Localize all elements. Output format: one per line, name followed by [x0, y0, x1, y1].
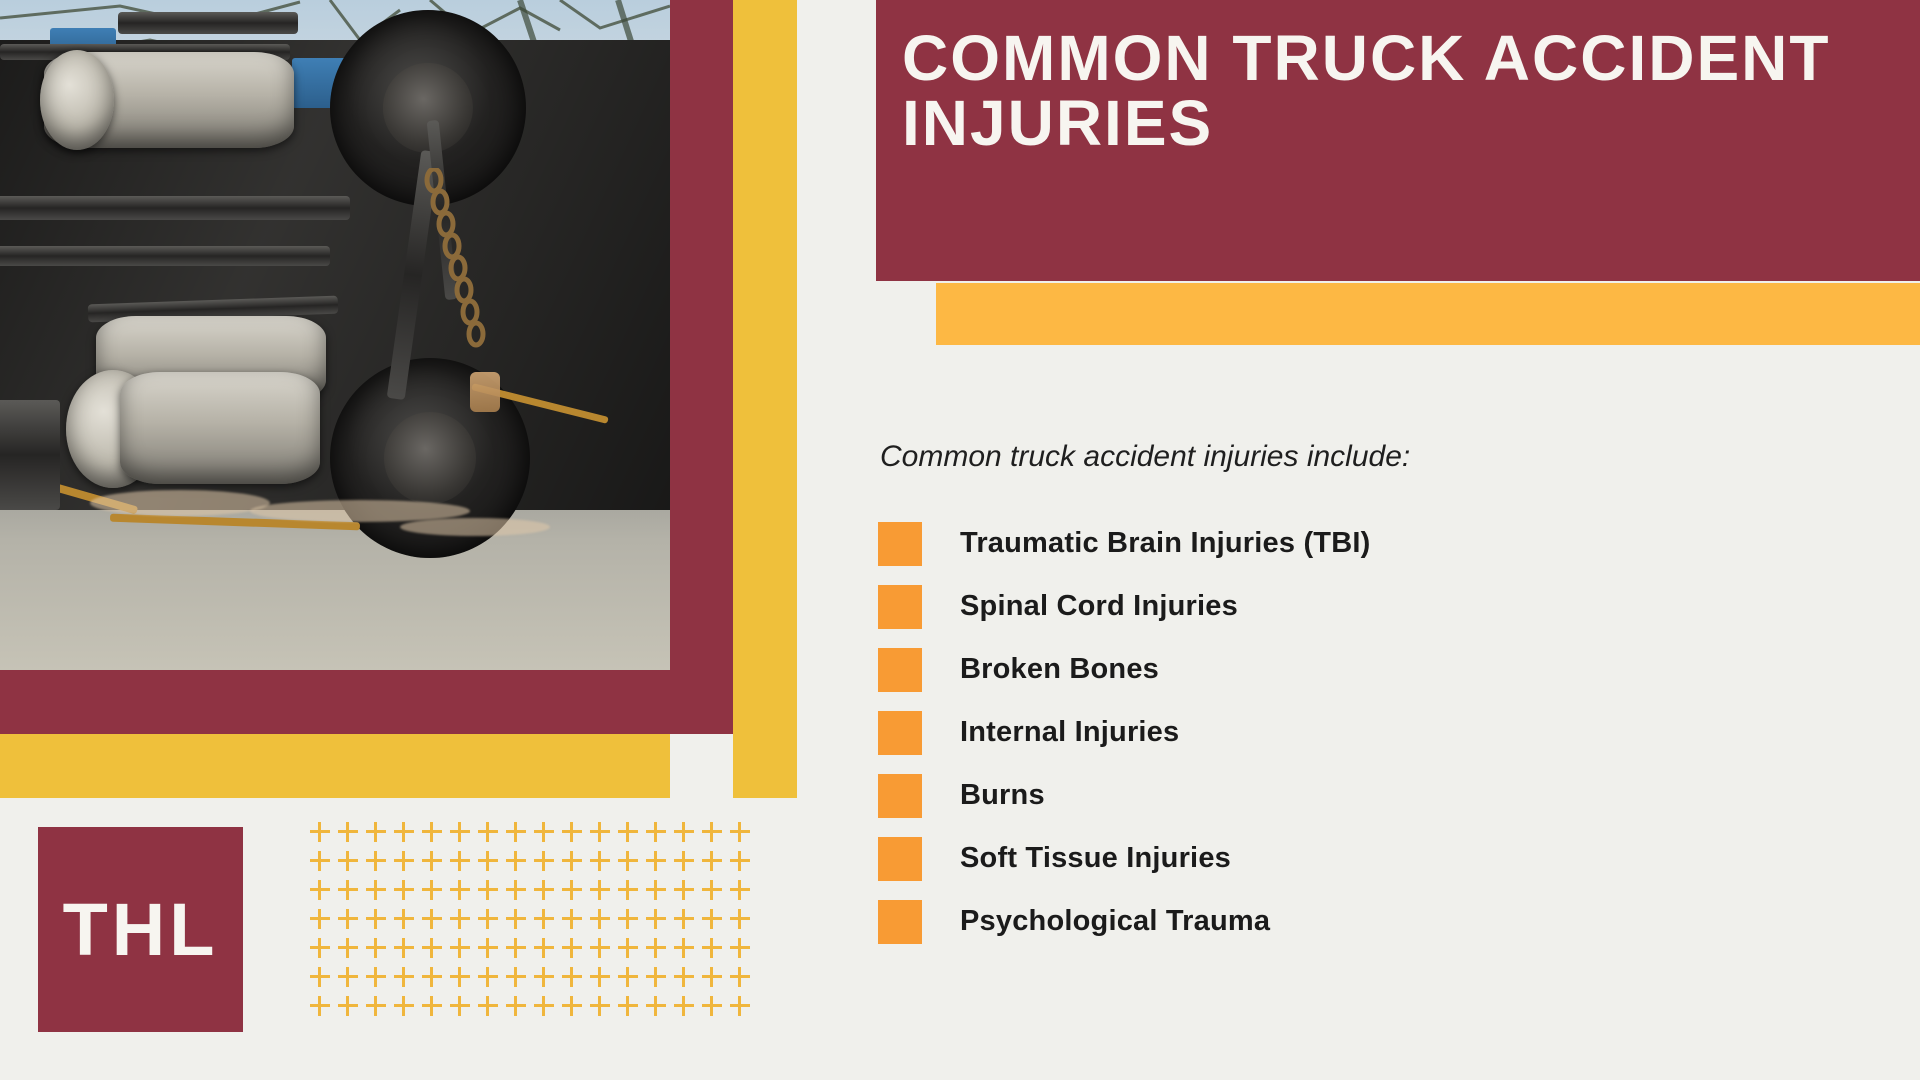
plus-icon — [478, 996, 498, 1016]
plus-icon — [674, 880, 694, 900]
plus-icon — [534, 822, 554, 842]
plus-icon — [646, 851, 666, 871]
photo-air-tank — [120, 372, 320, 484]
injury-list-item: Soft Tissue Injuries — [878, 827, 1778, 890]
plus-icon — [394, 851, 414, 871]
plus-icon — [702, 938, 722, 958]
plus-icon — [338, 822, 358, 842]
plus-icon — [674, 909, 694, 929]
plus-icon — [730, 880, 750, 900]
plus-icon — [702, 822, 722, 842]
plus-icon — [450, 851, 470, 871]
photo-debris — [470, 372, 500, 412]
plus-icon — [450, 822, 470, 842]
plus-icon — [534, 967, 554, 987]
plus-icon — [450, 938, 470, 958]
plus-icon — [618, 938, 638, 958]
photo-chassis-rail — [0, 246, 330, 266]
plus-icon — [394, 996, 414, 1016]
plus-icon — [674, 822, 694, 842]
plus-icon — [450, 967, 470, 987]
plus-icon — [506, 851, 526, 871]
plus-icon — [394, 909, 414, 929]
plus-icon — [478, 967, 498, 987]
plus-icon — [450, 880, 470, 900]
plus-icon — [646, 996, 666, 1016]
injury-label: Psychological Trauma — [960, 905, 1270, 938]
plus-icon — [506, 938, 526, 958]
plus-icon — [422, 909, 442, 929]
plus-icon — [702, 909, 722, 929]
plus-icon — [730, 909, 750, 929]
plus-icon — [562, 938, 582, 958]
plus-icon — [646, 909, 666, 929]
plus-icon — [618, 880, 638, 900]
plus-icon — [534, 909, 554, 929]
plus-icon — [618, 822, 638, 842]
plus-icon — [478, 909, 498, 929]
thl-logo-text: THL — [63, 887, 219, 972]
plus-icon — [310, 822, 330, 842]
plus-icon — [478, 851, 498, 871]
plus-icon — [590, 938, 610, 958]
square-bullet-icon — [878, 648, 922, 692]
plus-icon — [366, 909, 386, 929]
plus-icon — [310, 967, 330, 987]
photo-truck-grille — [0, 400, 60, 510]
yellow-vertical-stripe — [733, 0, 797, 798]
orange-accent-bar — [936, 283, 1920, 345]
plus-icon — [310, 880, 330, 900]
plus-icon — [478, 880, 498, 900]
plus-icon — [562, 822, 582, 842]
plus-icon — [366, 851, 386, 871]
thl-logo[interactable]: THL — [38, 827, 243, 1032]
plus-icon — [422, 967, 442, 987]
truck-accident-photo — [0, 0, 670, 670]
plus-icon — [730, 851, 750, 871]
plus-icon — [730, 996, 750, 1016]
square-bullet-icon — [878, 585, 922, 629]
plus-icon — [506, 822, 526, 842]
plus-icon — [618, 967, 638, 987]
plus-icon — [674, 938, 694, 958]
injury-list-item: Spinal Cord Injuries — [878, 575, 1778, 638]
plus-icon — [590, 880, 610, 900]
plus-icon — [338, 996, 358, 1016]
injury-list-item: Traumatic Brain Injuries (TBI) — [878, 512, 1778, 575]
plus-icon — [338, 967, 358, 987]
maroon-vertical-stripe — [670, 0, 733, 734]
injury-label: Spinal Cord Injuries — [960, 590, 1238, 623]
photo-debris — [400, 518, 550, 536]
plus-icon — [590, 996, 610, 1016]
injury-label: Internal Injuries — [960, 716, 1179, 749]
plus-icon — [590, 967, 610, 987]
infographic-canvas: THL COMMON TRUCK ACCIDENT INJURIES Commo… — [0, 0, 1920, 1080]
plus-icon — [338, 909, 358, 929]
plus-icon — [730, 938, 750, 958]
plus-icon — [310, 996, 330, 1016]
plus-icon — [562, 996, 582, 1016]
plus-icon — [646, 880, 666, 900]
plus-icon — [590, 909, 610, 929]
injury-list-item: Broken Bones — [878, 638, 1778, 701]
injury-label: Burns — [960, 779, 1045, 812]
plus-pattern-decoration — [310, 822, 760, 1037]
plus-icon — [646, 938, 666, 958]
photo-air-tank-cap — [40, 50, 114, 150]
plus-icon — [618, 996, 638, 1016]
injury-list-item: Burns — [878, 764, 1778, 827]
plus-icon — [506, 880, 526, 900]
plus-icon — [450, 996, 470, 1016]
photo-chassis-rail — [118, 12, 298, 34]
plus-icon — [646, 967, 666, 987]
square-bullet-icon — [878, 900, 922, 944]
plus-icon — [590, 822, 610, 842]
injury-label: Soft Tissue Injuries — [960, 842, 1231, 875]
plus-icon — [562, 967, 582, 987]
plus-icon — [366, 880, 386, 900]
plus-icon — [338, 880, 358, 900]
plus-icon — [674, 967, 694, 987]
plus-icon — [366, 938, 386, 958]
plus-icon — [730, 822, 750, 842]
plus-icon — [534, 996, 554, 1016]
plus-icon — [310, 851, 330, 871]
plus-icon — [394, 822, 414, 842]
plus-icon — [478, 822, 498, 842]
injury-list-item: Psychological Trauma — [878, 890, 1778, 953]
plus-icon — [450, 909, 470, 929]
maroon-horizontal-band — [0, 670, 670, 734]
photo-wheel-hub — [384, 412, 476, 504]
plus-icon — [534, 851, 554, 871]
square-bullet-icon — [878, 711, 922, 755]
plus-icon — [506, 996, 526, 1016]
plus-icon — [422, 851, 442, 871]
injury-label: Broken Bones — [960, 653, 1159, 686]
plus-icon — [366, 996, 386, 1016]
photo-chassis-rail — [0, 196, 350, 220]
yellow-horizontal-band — [0, 734, 670, 798]
plus-icon — [702, 967, 722, 987]
plus-icon — [534, 880, 554, 900]
injury-label: Traumatic Brain Injuries (TBI) — [960, 527, 1370, 560]
plus-icon — [422, 822, 442, 842]
injury-list: Traumatic Brain Injuries (TBI)Spinal Cor… — [878, 512, 1778, 953]
plus-icon — [702, 880, 722, 900]
header-block: COMMON TRUCK ACCIDENT INJURIES — [876, 0, 1920, 281]
plus-icon — [478, 938, 498, 958]
plus-icon — [310, 909, 330, 929]
plus-icon — [366, 822, 386, 842]
square-bullet-icon — [878, 522, 922, 566]
photo-debris — [90, 490, 270, 516]
plus-icon — [562, 880, 582, 900]
plus-icon — [394, 967, 414, 987]
plus-icon — [562, 909, 582, 929]
plus-icon — [422, 996, 442, 1016]
plus-icon — [422, 880, 442, 900]
photo-chain-icon — [420, 168, 510, 378]
plus-icon — [590, 851, 610, 871]
plus-icon — [338, 851, 358, 871]
plus-icon — [338, 938, 358, 958]
plus-icon — [394, 880, 414, 900]
plus-icon — [618, 851, 638, 871]
injury-list-item: Internal Injuries — [878, 701, 1778, 764]
plus-icon — [394, 938, 414, 958]
plus-icon — [674, 851, 694, 871]
plus-icon — [506, 909, 526, 929]
plus-icon — [646, 822, 666, 842]
page-title: COMMON TRUCK ACCIDENT INJURIES — [902, 26, 1880, 157]
plus-icon — [366, 967, 386, 987]
square-bullet-icon — [878, 837, 922, 881]
square-bullet-icon — [878, 774, 922, 818]
plus-icon — [730, 967, 750, 987]
plus-icon — [674, 996, 694, 1016]
plus-icon — [562, 851, 582, 871]
plus-icon — [506, 967, 526, 987]
plus-icon — [534, 938, 554, 958]
plus-icon — [422, 938, 442, 958]
intro-text: Common truck accident injuries include: — [880, 440, 1410, 474]
plus-icon — [618, 909, 638, 929]
plus-icon — [702, 851, 722, 871]
plus-icon — [702, 996, 722, 1016]
plus-icon — [310, 938, 330, 958]
